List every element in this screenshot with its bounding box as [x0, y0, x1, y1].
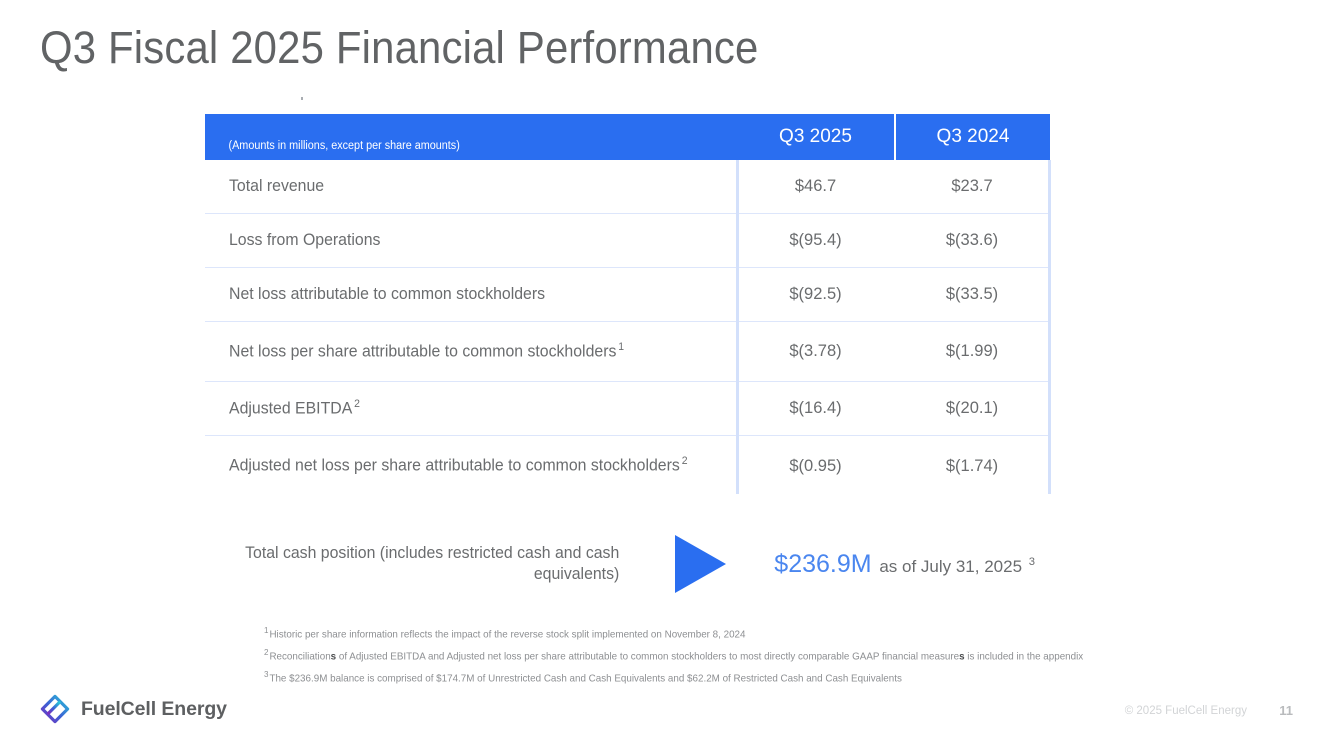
cash-position-value-group: $236.9M as of July 31, 2025 3: [774, 550, 1035, 579]
row-value-q3-2025: $46.7: [737, 177, 894, 196]
page-title: Q3 Fiscal 2025 Financial Performance: [40, 22, 758, 74]
table-right-border: [1048, 160, 1051, 494]
footnote-line: 1Historic per share information reflects…: [264, 622, 1219, 644]
cash-position-label: Total cash position (includes restricted…: [222, 543, 620, 586]
footnote-marker: 3: [1027, 556, 1035, 568]
footnote-marker: 2: [680, 455, 688, 467]
row-value-q3-2024: $(1.74): [894, 457, 1050, 476]
cash-position-asof: as of July 31, 2025 3: [872, 557, 1035, 576]
footnote-marker: 2: [264, 647, 269, 657]
row-value-q3-2024: $(33.5): [894, 285, 1050, 304]
slide-canvas: Q3 Fiscal 2025 Financial Performance (Am…: [0, 0, 1333, 749]
footnote-marker: 3: [264, 669, 269, 679]
footnote-marker: 1: [616, 341, 624, 353]
emphasized-glyph: s: [331, 651, 336, 662]
table-row: Total revenue$46.7$23.7: [205, 160, 1050, 214]
emphasized-glyph: s: [959, 651, 964, 662]
page-number: 11: [1279, 703, 1293, 718]
row-value-q3-2025: $(92.5): [737, 285, 894, 304]
row-value-q3-2025: $(16.4): [737, 399, 894, 418]
footnote-marker: 2: [352, 398, 360, 410]
row-value-q3-2025: $(3.78): [737, 342, 894, 361]
row-value-q3-2024: $(1.99): [894, 342, 1050, 361]
footnote-line: 3The $236.9M balance is comprised of $17…: [264, 666, 1219, 688]
cash-position-amount: $236.9M: [774, 550, 871, 578]
column-divider-left: [736, 160, 739, 494]
footer-copyright: © 2025 FuelCell Energy: [1125, 705, 1247, 717]
row-label: Adjusted EBITDA2: [205, 398, 716, 420]
footnote-marker: 1: [264, 625, 269, 635]
footer-logo-text: FuelCell Energy: [81, 698, 227, 721]
table-row: Loss from Operations$(95.4)$(33.6): [205, 214, 1050, 268]
fuelcell-logo-icon: [40, 694, 70, 724]
row-value-q3-2024: $23.7: [894, 177, 1050, 196]
table-row: Net loss attributable to common stockhol…: [205, 268, 1050, 322]
row-label: Loss from Operations: [205, 230, 716, 251]
footnote-line: 2Reconciliations of Adjusted EBITDA and …: [264, 644, 1219, 666]
arrow-right-icon: [675, 535, 726, 593]
table-row: Adjusted net loss per share attributable…: [205, 436, 1050, 496]
table-row: Adjusted EBITDA2$(16.4)$(20.1): [205, 382, 1050, 436]
footer-logo: FuelCell Energy: [40, 694, 227, 724]
row-label: Net loss attributable to common stockhol…: [205, 284, 716, 305]
row-value-q3-2025: $(95.4): [737, 231, 894, 250]
cash-position-block: Total cash position (includes restricted…: [205, 535, 1035, 593]
table-row: Net loss per share attributable to commo…: [205, 322, 1050, 382]
table-caption: (Amounts in millions, except per share a…: [205, 114, 705, 160]
stray-dot-artifact: [301, 97, 303, 100]
row-label: Net loss per share attributable to commo…: [205, 341, 716, 363]
row-value-q3-2025: $(0.95): [737, 457, 894, 476]
table-header-row: (Amounts in millions, except per share a…: [205, 114, 1050, 160]
column-header-q3-2024: Q3 2024: [894, 114, 1050, 160]
table-body: Total revenue$46.7$23.7Loss from Operati…: [205, 160, 1050, 496]
column-header-q3-2025: Q3 2025: [737, 114, 894, 160]
row-label: Total revenue: [205, 176, 716, 197]
row-value-q3-2024: $(20.1): [894, 399, 1050, 418]
footnotes: 1Historic per share information reflects…: [264, 622, 1264, 688]
row-value-q3-2024: $(33.6): [894, 231, 1050, 250]
financial-table: (Amounts in millions, except per share a…: [205, 114, 1050, 496]
row-label: Adjusted net loss per share attributable…: [205, 455, 716, 477]
